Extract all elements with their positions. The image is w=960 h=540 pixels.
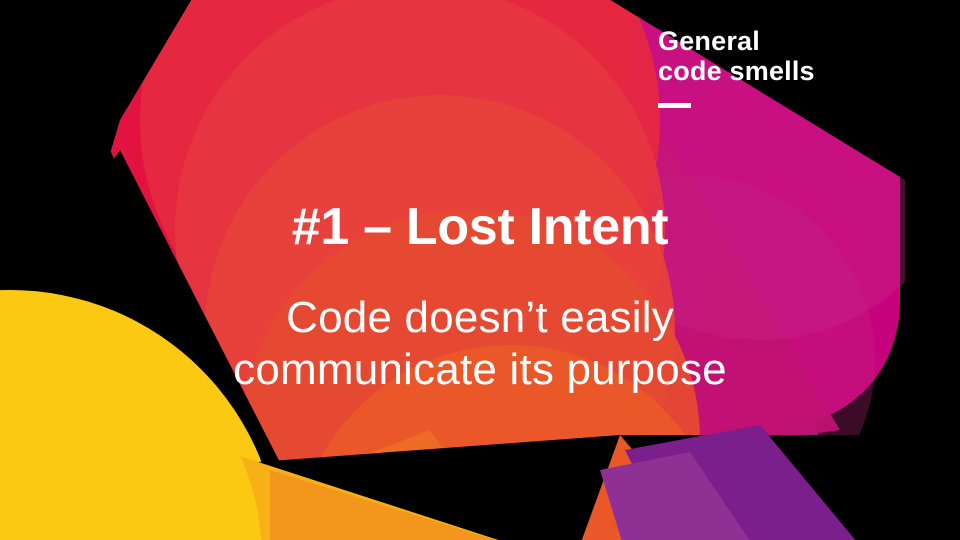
slide-header: General code smells (658, 26, 938, 108)
header-line-1: General (658, 26, 938, 56)
header-line-2: code smells (658, 56, 938, 86)
subtitle-line-2: communicate its purpose (0, 344, 960, 396)
title-container: #1 – Lost Intent (0, 196, 960, 258)
header-divider-dash (658, 103, 691, 108)
slide-title: #1 – Lost Intent (0, 196, 960, 258)
subtitle-container: Code doesn’t easily communicate its purp… (0, 292, 960, 396)
slide-canvas: General code smells #1 – Lost Intent Cod… (0, 0, 960, 540)
subtitle-line-1: Code doesn’t easily (0, 292, 960, 344)
